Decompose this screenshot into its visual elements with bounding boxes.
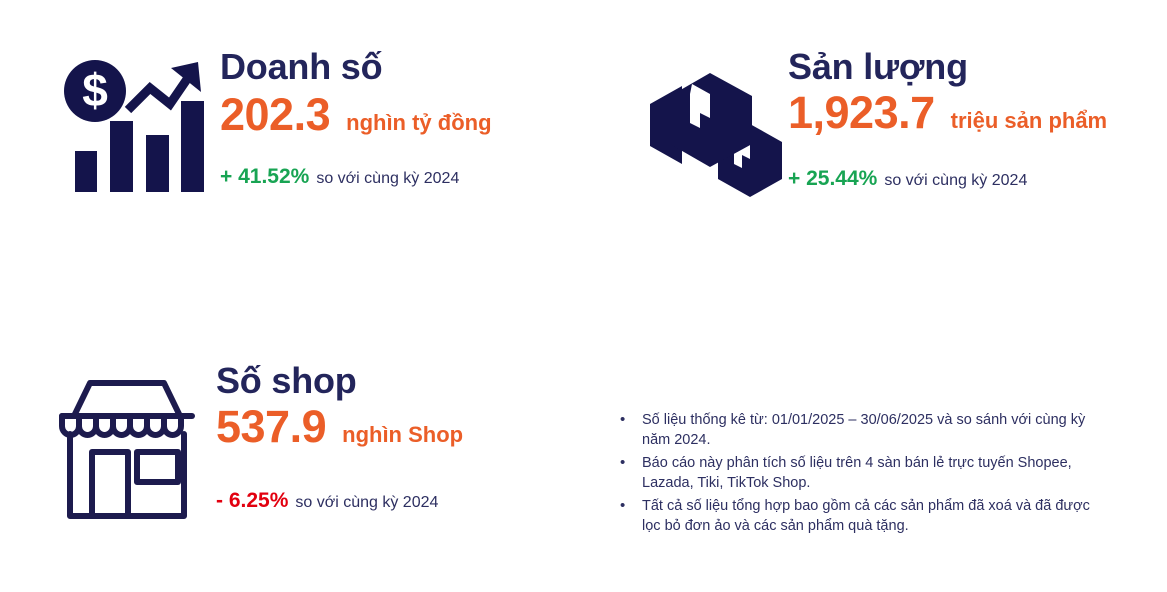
stacked-boxes-icon: [640, 48, 792, 198]
kpi-value: 1,923.7: [788, 88, 935, 138]
kpi-card-volume: Sản lượng 1,923.7 triệu sản phẩm + 25.44…: [640, 42, 1107, 198]
list-item: • Tất cả số liệu tổng hợp bao gồm cả các…: [612, 496, 1160, 536]
kpi-unit: nghìn tỷ đồng: [346, 112, 491, 134]
kpi-text-block: Số shop 537.9 nghìn Shop - 6.25% so với …: [216, 362, 463, 511]
kpi-text-block: Sản lượng 1,923.7 triệu sản phẩm + 25.44…: [788, 48, 1107, 189]
kpi-delta-note: so với cùng kỳ 2024: [884, 173, 1027, 189]
kpi-delta-note: so với cùng kỳ 2024: [316, 171, 459, 187]
bullet-icon: •: [612, 496, 642, 516]
kpi-title: Doanh số: [220, 48, 492, 86]
footnote-line: Lazada, Tiki, TikTok Shop.: [642, 473, 1160, 493]
bullet-icon: •: [612, 453, 642, 473]
kpi-delta-row: + 41.52% so với cùng kỳ 2024: [220, 166, 492, 187]
footnote-line: Báo cáo này phân tích số liệu trên 4 sàn…: [642, 455, 1072, 471]
footnote-line: Tất cả số liệu tổng hợp bao gồm cả các s…: [642, 498, 1090, 514]
storefront-icon: [52, 370, 202, 525]
kpi-title: Số shop: [216, 362, 463, 400]
kpi-delta-percent: + 25.44%: [788, 168, 877, 189]
footnote-line: lọc bỏ đơn ảo và các sản phẩm quà tặng.: [642, 516, 1160, 536]
bullet-icon: •: [612, 410, 642, 430]
footnote-text: Tất cả số liệu tổng hợp bao gồm cả các s…: [642, 496, 1160, 536]
kpi-delta-percent: - 6.25%: [216, 490, 288, 511]
list-item: • Số liệu thống kê từ: 01/01/2025 – 30/0…: [612, 410, 1160, 450]
kpi-value: 202.3: [220, 90, 330, 140]
kpi-card-revenue: $ Doanh số 202.3 nghìn tỷ đồng + 41.52% …: [58, 42, 492, 198]
kpi-value: 537.9: [216, 402, 326, 452]
kpi-text-block: Doanh số 202.3 nghìn tỷ đồng + 41.52% so…: [220, 48, 492, 187]
kpi-delta-percent: + 41.52%: [220, 166, 309, 187]
footnote-line: Số liệu thống kê từ: 01/01/2025 – 30/06/…: [642, 412, 1085, 428]
kpi-card-shops: Số shop 537.9 nghìn Shop - 6.25% so với …: [52, 362, 463, 525]
footnote-text: Báo cáo này phân tích số liệu trên 4 sàn…: [642, 453, 1160, 493]
kpi-unit: triệu sản phẩm: [951, 110, 1107, 132]
footnotes-list: • Số liệu thống kê từ: 01/01/2025 – 30/0…: [612, 410, 1160, 539]
kpi-value-row: 202.3 nghìn tỷ đồng: [220, 90, 492, 140]
footnote-line: năm 2024.: [642, 430, 1160, 450]
kpi-delta-row: - 6.25% so với cùng kỳ 2024: [216, 490, 463, 511]
svg-text:$: $: [82, 64, 108, 116]
kpi-title: Sản lượng: [788, 48, 1107, 86]
kpi-delta-row: + 25.44% so với cùng kỳ 2024: [788, 168, 1107, 189]
kpi-value-row: 1,923.7 triệu sản phẩm: [788, 88, 1107, 138]
kpi-value-row: 537.9 nghìn Shop: [216, 402, 463, 452]
kpi-unit: nghìn Shop: [342, 424, 463, 446]
money-growth-chart-icon: $: [58, 48, 208, 198]
footnote-text: Số liệu thống kê từ: 01/01/2025 – 30/06/…: [642, 410, 1160, 450]
list-item: • Báo cáo này phân tích số liệu trên 4 s…: [612, 453, 1160, 493]
kpi-delta-note: so với cùng kỳ 2024: [295, 495, 438, 511]
